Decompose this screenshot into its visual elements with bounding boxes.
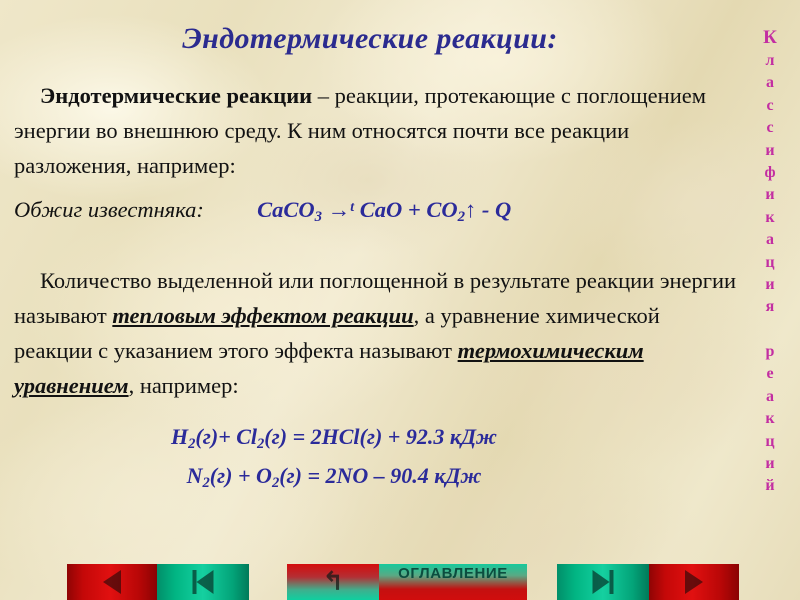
eq2-part-a: N	[187, 463, 203, 488]
vertical-letter: а	[740, 386, 800, 408]
vertical-letter: с	[740, 95, 800, 117]
paragraph-part-3: , например:	[129, 373, 239, 398]
formula-product2: CO	[426, 197, 457, 222]
eq1-part-b: (г)+ Cl	[195, 424, 257, 449]
skip-bar	[610, 570, 614, 594]
toc-label: ОГЛАВЛЕНИЕ	[379, 566, 527, 582]
term-endothermic: Эндотермические реакции	[40, 83, 312, 108]
limestone-formula: CaCO3 →t CaO + CO2↑ - Q	[257, 197, 511, 222]
formula-reactant: CaCO	[257, 197, 315, 222]
skip-triangle	[593, 570, 610, 594]
thermochemical-equation-row: H2(г)+ Cl2(г) = 2HCl(г) + 92.3 кДж	[14, 421, 654, 460]
vertical-letter: и	[740, 453, 800, 475]
vertical-letter: ц	[740, 252, 800, 274]
nav-table-of-contents-button[interactable]: ОГЛАВЛЕНИЕ	[379, 564, 527, 600]
formula-plus: +	[408, 197, 421, 222]
navigation-bar: ↰ ОГЛАВЛЕНИЕ	[0, 564, 752, 600]
vertical-letter: с	[740, 117, 800, 139]
eq1-part-c: (г) = 2HCl(г) + 92.3 кДж	[264, 424, 497, 449]
limestone-label: Обжиг известняка:	[14, 194, 204, 226]
formula-arrow: →	[328, 197, 351, 222]
eq2-sub-a: 2	[202, 475, 209, 491]
paragraph-definition: Эндотермические реакции – реакции, проте…	[14, 78, 740, 183]
slide-canvas: Эндотермические реакции: Эндотермические…	[0, 0, 800, 600]
formula-gas-arrow: ↑	[465, 197, 476, 222]
vertical-letter: к	[740, 207, 800, 229]
vertical-letter: к	[740, 408, 800, 430]
nav-back-button[interactable]	[67, 564, 157, 600]
nav-return-button[interactable]: ↰	[287, 564, 379, 600]
skip-back-icon	[193, 570, 214, 594]
vertical-word-classification: К л а с с и ф и к а ц и я	[740, 26, 800, 319]
skip-triangle	[197, 570, 214, 594]
formula-product2-sub: 2	[458, 209, 465, 225]
vertical-banner-classification: К л а с с и ф и к а ц и я р е а к ц и й	[740, 0, 800, 600]
vertical-letter: К	[740, 26, 800, 50]
nav-first-slide-button[interactable]	[157, 564, 249, 600]
slide-content: Эндотермические реакции – реакции, проте…	[14, 78, 740, 499]
eq2-part-b: (г) + O	[210, 463, 272, 488]
limestone-equation-line: Обжиг известняка: CaCO3 →t CaO + CO2↑ - …	[14, 192, 740, 233]
formula-product1: CaO	[360, 197, 403, 222]
triangle-left-icon	[103, 570, 121, 594]
vertical-letter: а	[740, 72, 800, 94]
u-turn-arrow-icon: ↰	[322, 569, 344, 595]
thermochemical-equation-row: N2(г) + O2(г) = 2NO – 90.4 кДж	[14, 460, 654, 499]
spacer	[14, 403, 740, 421]
vertical-letter: р	[740, 341, 800, 363]
vertical-letter: е	[740, 363, 800, 385]
vertical-letter: л	[740, 50, 800, 72]
skip-forward-icon	[593, 570, 614, 594]
vertical-letter: и	[740, 140, 800, 162]
spacer	[14, 183, 740, 192]
vertical-word-reactions: р е а к ц и й	[740, 341, 800, 498]
vertical-letter: я	[740, 296, 800, 318]
vertical-letter: и	[740, 184, 800, 206]
formula-heat: - Q	[482, 197, 511, 222]
vertical-letter: ф	[740, 162, 800, 184]
vertical-letter: а	[740, 229, 800, 251]
vertical-word-gap	[740, 319, 800, 341]
paragraph-thermal-effect: Количество выделенной или поглощенной в …	[14, 263, 740, 403]
vertical-letter: и	[740, 274, 800, 296]
vertical-letter: й	[740, 475, 800, 497]
vertical-letter: ц	[740, 431, 800, 453]
formula-arrow-sup: t	[350, 200, 354, 215]
eq2-part-c: (г) = 2NO – 90.4 кДж	[279, 463, 481, 488]
emphasis-thermal-effect: тепловым эффектом реакции	[112, 303, 413, 328]
formula-reactant-sub: 3	[315, 209, 322, 225]
nav-last-slide-button[interactable]	[557, 564, 649, 600]
thermochemical-equations: H2(г)+ Cl2(г) = 2HCl(г) + 92.3 кДж N2(г)…	[14, 421, 654, 499]
triangle-right-icon	[685, 570, 703, 594]
slide-title: Эндотермические реакции:	[0, 22, 740, 56]
eq1-part-a: H	[171, 424, 188, 449]
spacer	[14, 233, 740, 263]
nav-forward-button[interactable]	[649, 564, 739, 600]
